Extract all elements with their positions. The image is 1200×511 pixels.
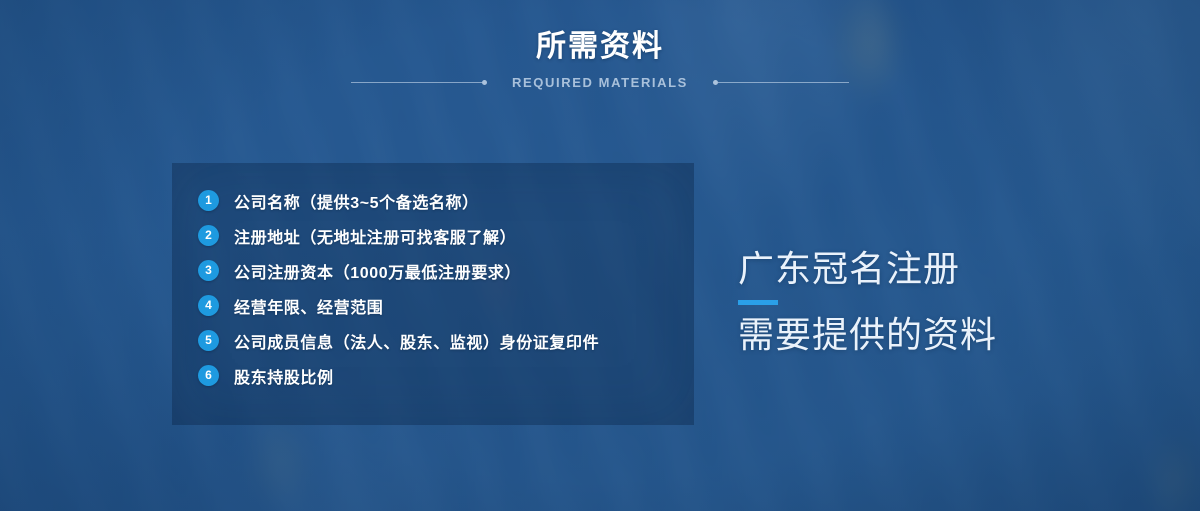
list-item: 4 经营年限、经营范围	[198, 288, 684, 323]
list-item-label: 公司注册资本（1000万最低注册要求）	[234, 259, 521, 283]
side-headline-line2: 需要提供的资料	[738, 313, 997, 357]
list-item-badge: 3	[198, 260, 219, 281]
side-headline-block: 广东冠名注册 需要提供的资料	[738, 247, 997, 357]
list-item: 5 公司成员信息（法人、股东、监视）身份证复印件	[198, 323, 684, 358]
list-item-label: 公司成员信息（法人、股东、监视）身份证复印件	[234, 329, 599, 353]
list-item-label: 公司名称（提供3~5个备选名称）	[234, 189, 479, 213]
list-item: 3 公司注册资本（1000万最低注册要求）	[198, 253, 684, 288]
page-title: 所需资料	[0, 28, 1200, 66]
list-item: 1 公司名称（提供3~5个备选名称）	[198, 183, 684, 218]
list-item-badge: 4	[198, 295, 219, 316]
banner-header: 所需资料 REQUIRED MATERIALS	[0, 28, 1200, 90]
list-item-label: 股东持股比例	[234, 364, 334, 388]
side-headline-line1: 广东冠名注册	[738, 247, 997, 291]
list-item: 2 注册地址（无地址注册可找客服了解）	[198, 218, 684, 253]
divider-rule-left	[351, 82, 482, 83]
list-item: 6 股东持股比例	[198, 358, 684, 393]
subtitle-row: REQUIRED MATERIALS	[0, 75, 1200, 90]
page-subtitle: REQUIRED MATERIALS	[487, 75, 713, 90]
materials-list: 1 公司名称（提供3~5个备选名称） 2 注册地址（无地址注册可找客服了解） 3…	[198, 183, 684, 393]
list-item-label: 注册地址（无地址注册可找客服了解）	[234, 224, 516, 248]
list-item-badge: 2	[198, 225, 219, 246]
list-item-badge: 5	[198, 330, 219, 351]
materials-panel: 1 公司名称（提供3~5个备选名称） 2 注册地址（无地址注册可找客服了解） 3…	[172, 163, 694, 425]
divider-rule-right	[718, 82, 849, 83]
list-item-badge: 6	[198, 365, 219, 386]
side-headline-divider	[738, 300, 778, 305]
list-item-label: 经营年限、经营范围	[234, 294, 383, 318]
list-item-badge: 1	[198, 190, 219, 211]
required-materials-banner: 所需资料 REQUIRED MATERIALS 1 公司名称（提供3~5个备选名…	[0, 0, 1200, 511]
